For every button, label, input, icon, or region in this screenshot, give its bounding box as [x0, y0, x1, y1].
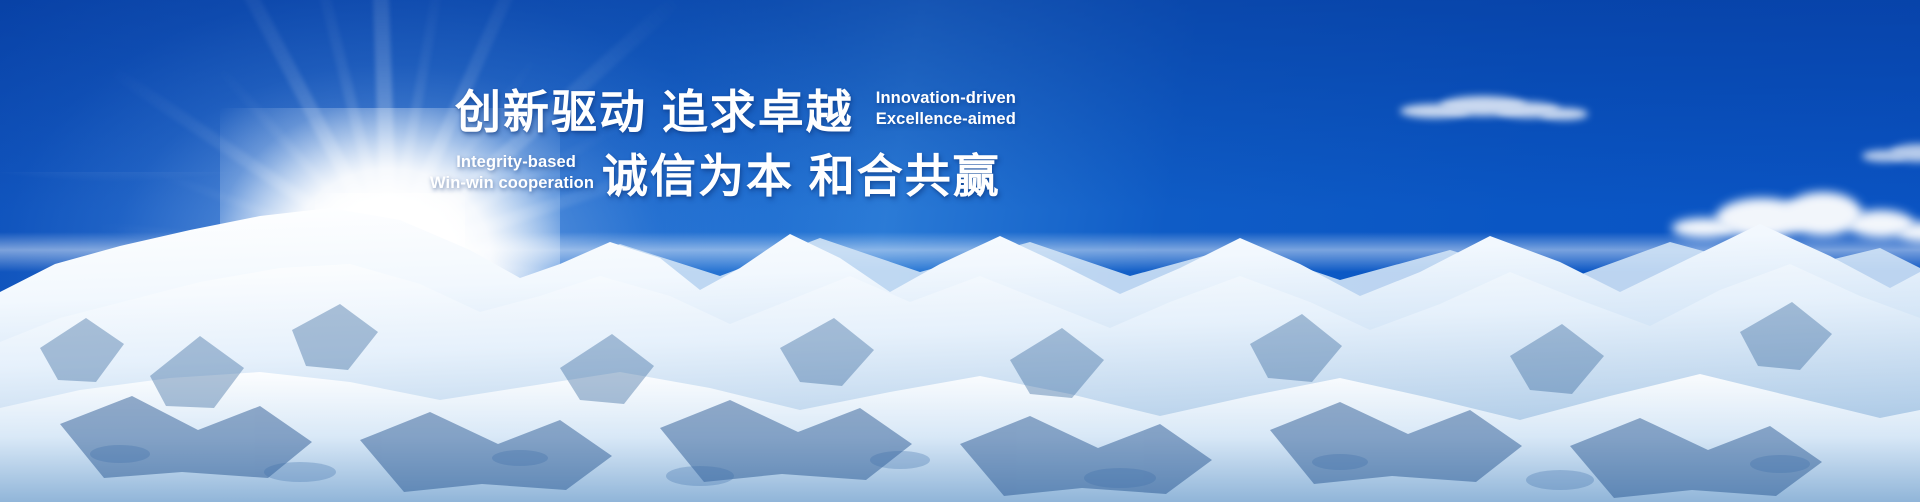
snow-capped-mountain-range [0, 172, 1920, 502]
hero-banner: 创新驱动 追求卓越 Innovation-driven Excellence-a… [0, 0, 1920, 502]
